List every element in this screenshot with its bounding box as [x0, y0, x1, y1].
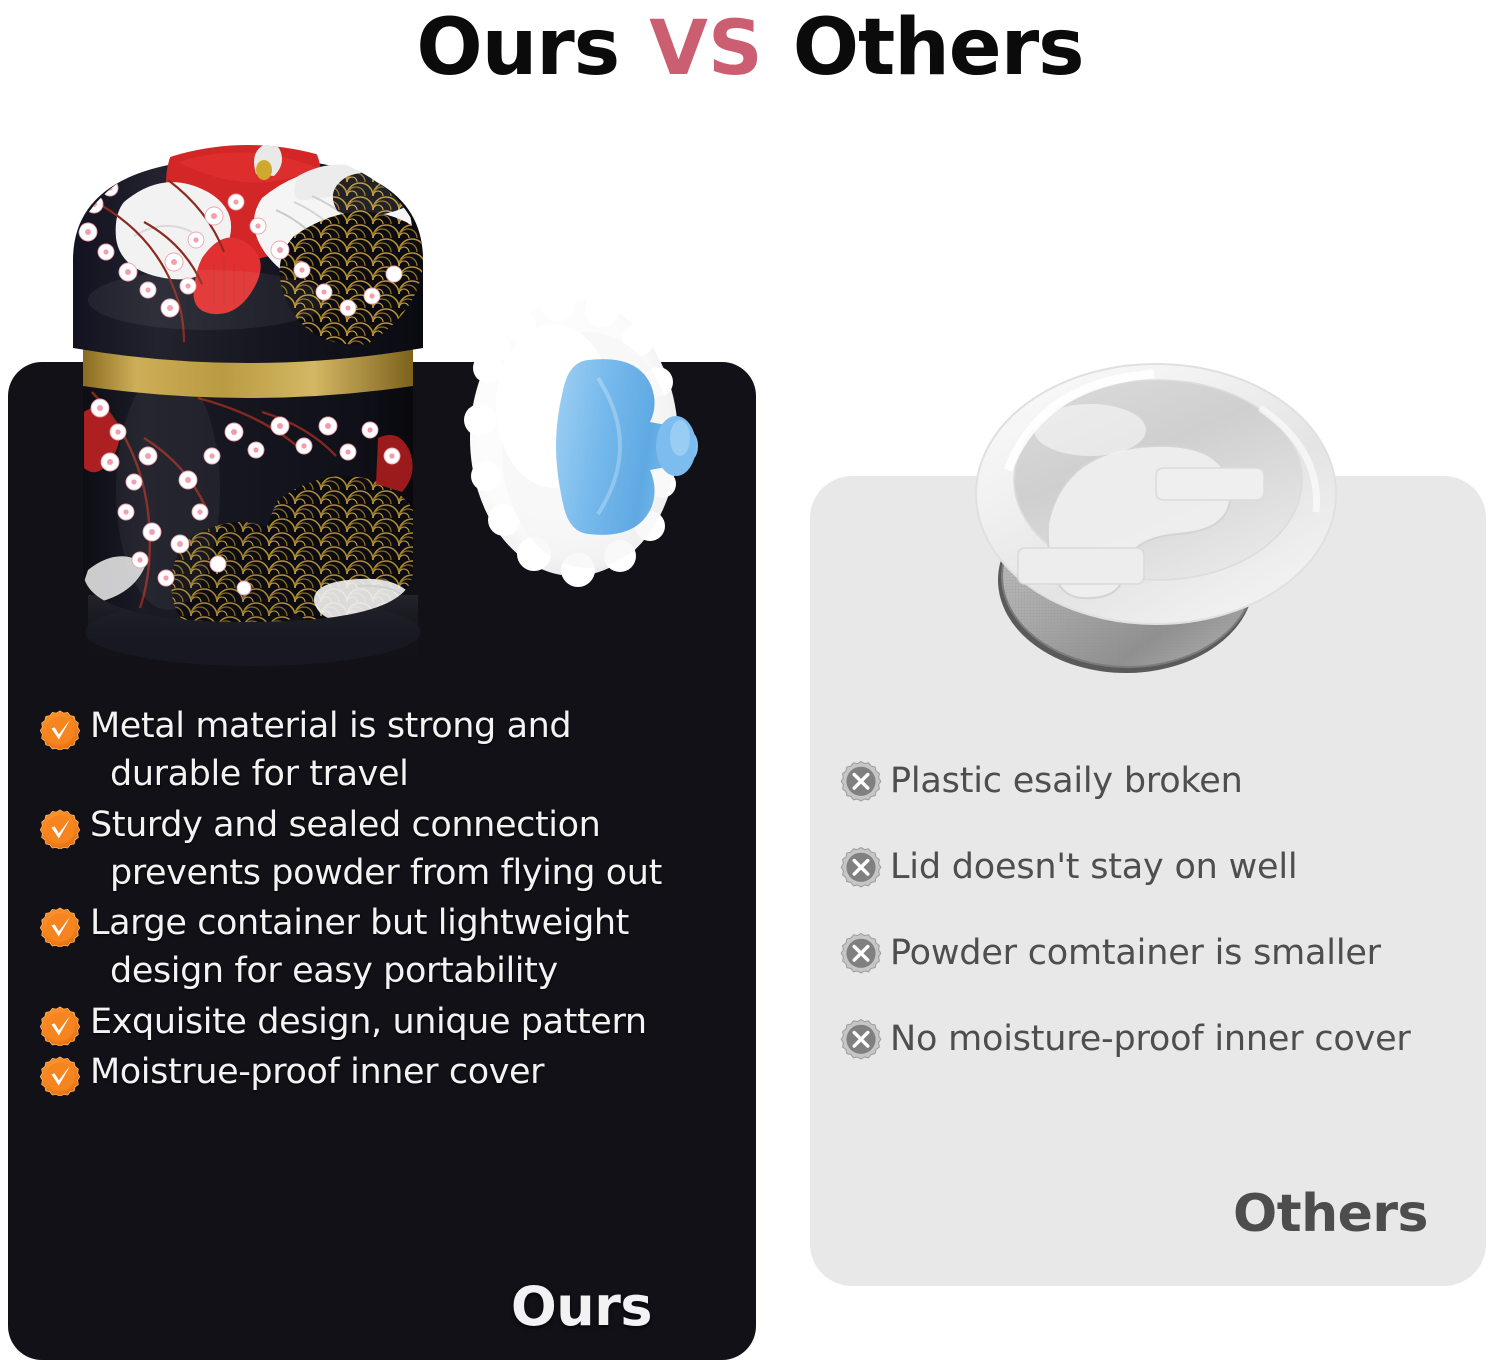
title-others: Others — [793, 9, 1084, 87]
x-badge-icon — [840, 760, 882, 802]
list-item-label: Moistrue-proof inner cover — [80, 1048, 544, 1096]
check-badge-icon — [40, 1006, 80, 1046]
x-badge-icon — [840, 932, 882, 974]
x-badge-icon — [840, 1018, 882, 1060]
list-item: Moistrue-proof inner cover — [40, 1052, 730, 1096]
x-badge-icon — [840, 846, 882, 888]
powder-puff-image — [462, 248, 722, 628]
comparison-infographic: Ours VS Others — [0, 0, 1500, 1369]
clear-plastic-powder-jar-image — [940, 352, 1360, 702]
list-item: Large container but lightweight design f… — [40, 903, 730, 996]
japanese-tin-jar-image — [48, 140, 478, 670]
list-item-label: Exquisite design, unique pattern — [80, 998, 647, 1046]
check-badge-icon — [40, 1056, 80, 1096]
list-item-label: Lid doesn't stay on well — [882, 846, 1297, 888]
ours-panel-label: Ours — [511, 1275, 652, 1338]
others-panel-label: Others — [1233, 1184, 1428, 1244]
others-drawback-list: Plastic esaily broken Lid doesn't stay o… — [840, 738, 1480, 1082]
list-item: Exquisite design, unique pattern — [40, 1002, 730, 1046]
title-ours: Ours — [416, 9, 619, 87]
list-item: Metal material is strong and durable for… — [40, 706, 730, 799]
check-badge-icon — [40, 907, 80, 947]
check-badge-icon — [40, 809, 80, 849]
list-item-label: Powder comtainer is smaller — [882, 932, 1381, 974]
list-item-label: Metal material is strong and durable for… — [80, 702, 571, 799]
title-vs: VS — [649, 10, 763, 86]
list-item: Lid doesn't stay on well — [840, 824, 1480, 910]
list-item: Sturdy and sealed connection prevents po… — [40, 805, 730, 898]
list-item: Powder comtainer is smaller — [840, 910, 1480, 996]
check-badge-icon — [40, 710, 80, 750]
list-item: Plastic esaily broken — [840, 738, 1480, 824]
list-item-label: Plastic esaily broken — [882, 760, 1243, 802]
list-item-label: Sturdy and sealed connection prevents po… — [80, 801, 662, 898]
list-item-label: Large container but lightweight design f… — [80, 899, 629, 996]
list-item-label: No moisture-proof inner cover — [882, 1018, 1411, 1060]
page-title: Ours VS Others — [0, 2, 1500, 94]
list-item: No moisture-proof inner cover — [840, 996, 1480, 1082]
ours-feature-list: Metal material is strong and durable for… — [40, 706, 730, 1102]
